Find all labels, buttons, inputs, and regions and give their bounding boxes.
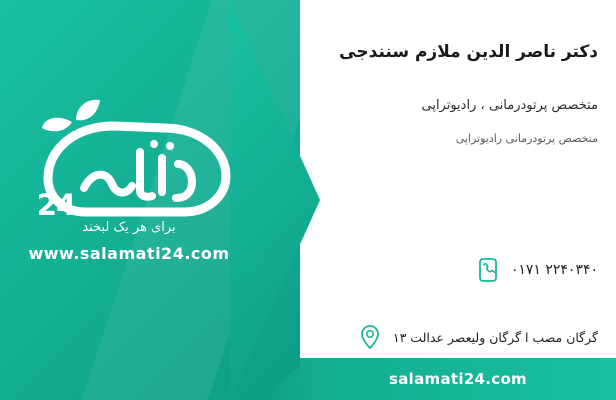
- address-row[interactable]: گرگان مصب ا گرگان ولیعصر عدالت ۱۳: [357, 322, 598, 352]
- business-card: 24 برای‌ هر یک لبخند www.salamati24.com …: [0, 0, 616, 400]
- footer-bar: salamati24.com: [300, 358, 616, 400]
- phone-icon: [475, 255, 501, 285]
- doctor-specialty: متخصص پرتودرمانی ، رادیوتراپی: [421, 98, 598, 113]
- footer-website[interactable]: salamati24.com: [389, 370, 527, 388]
- brand-logo: 24 برای‌ هر یک لبخند www.salamati24.com: [14, 92, 244, 252]
- logo-website-url[interactable]: www.salamati24.com: [14, 244, 244, 263]
- logo-badge-24: 24: [34, 185, 78, 225]
- phone-number: ۲۲۴۰۳۴۰ ۰۱۷۱: [511, 262, 598, 278]
- doctor-name: دکتر ناصر الدین ملازم سنندجی: [339, 42, 598, 62]
- address-text: گرگان مصب ا گرگان ولیعصر عدالت ۱۳: [393, 330, 598, 345]
- location-pin-icon: [357, 322, 383, 352]
- doctor-specialty-secondary: متخصص پرتودرمانی رادیوتراپی: [456, 132, 598, 145]
- logo-tagline: برای‌ هر یک لبخند: [14, 220, 244, 235]
- phone-row[interactable]: ۲۲۴۰۳۴۰ ۰۱۷۱: [475, 255, 598, 285]
- card-details: دکتر ناصر الدین ملازم سنندجی متخصص پرتود…: [310, 0, 616, 400]
